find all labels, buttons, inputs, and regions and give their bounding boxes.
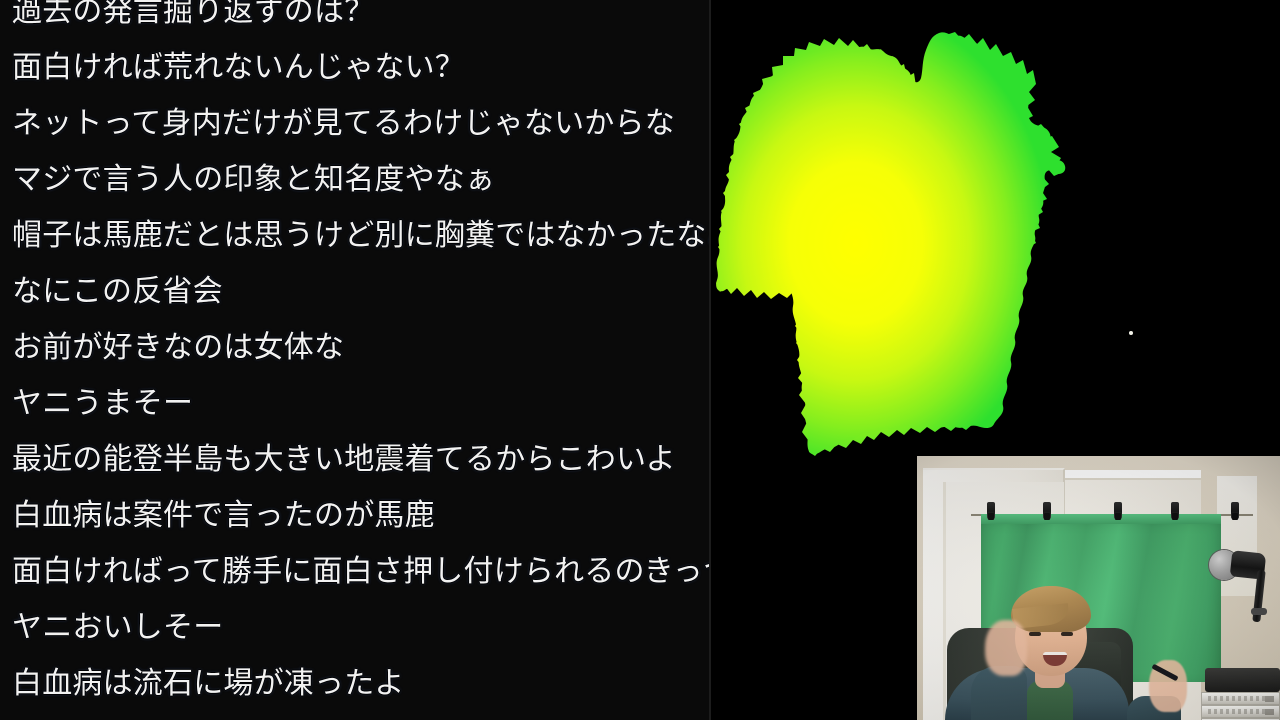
clothes-peg-icon [1171,502,1179,519]
chat-message: 帽子は馬鹿だとは思うけど別に胸糞ではなかったなあ [0,208,710,264]
game-case [1201,692,1280,705]
streamer-hand-left [985,620,1027,676]
streamer-eye-right [1061,632,1073,636]
case-spine-text [1208,696,1268,701]
microphone-clamp [1251,608,1267,615]
case-label-tag [1265,696,1274,702]
chat-message: お前が好きなのは女体な [0,320,710,376]
streamer-eye-left [1029,632,1041,636]
case-spine-text [1208,709,1268,714]
clothes-peg-icon [987,502,995,519]
clothes-peg-icon [1114,502,1122,519]
game-case [1201,705,1280,718]
webcam-overlay[interactable] [917,456,1280,720]
chat-message-list: 過去の発言掘り返すのは？ 面白ければ荒れないんじゃない？ ネットって身内だけが見… [0,0,710,712]
chat-message: なにこの反省会 [0,264,710,320]
chat-message: 最近の能登半島も大きい地震着てるからこわいよ [0,432,710,488]
clothes-peg-icon [1043,502,1051,519]
chat-panel[interactable]: 過去の発言掘り返すのは？ 面白ければ荒れないんじゃない？ ネットって身内だけが見… [0,0,710,720]
chat-message: 過去の発言掘り返すのは？ [0,0,710,40]
chat-message: ヤニうまそー [0,376,710,432]
chat-message: 面白ければって勝手に面白さ押し付けられるのきっつ [0,544,710,600]
chat-message: 白血病は案件で言ったのが馬鹿 [0,488,710,544]
stream-player-stage: 過去の発言掘り返すのは？ 面白ければ荒れないんじゃない？ ネットって身内だけが見… [0,0,1280,720]
case-label-tag [1265,709,1274,715]
door-rail [1063,470,1201,480]
mie-prefecture-silhouette-main [716,32,1065,454]
chat-message: マジで言う人の印象と知名度やなぁ [0,152,710,208]
console-device [1205,668,1280,692]
chat-message: ネットって身内だけが見てるわけじゃないからな [0,96,710,152]
chat-message: ヤニおいしそー [0,600,710,656]
clothes-peg-icon [1231,502,1239,519]
chat-message: 白血病は流石に場が凍ったよ [0,656,710,712]
curtain-top-hem [981,514,1221,524]
map-islet-marker [1129,331,1133,335]
chat-message: 面白ければ荒れないんじゃない？ [0,40,710,96]
